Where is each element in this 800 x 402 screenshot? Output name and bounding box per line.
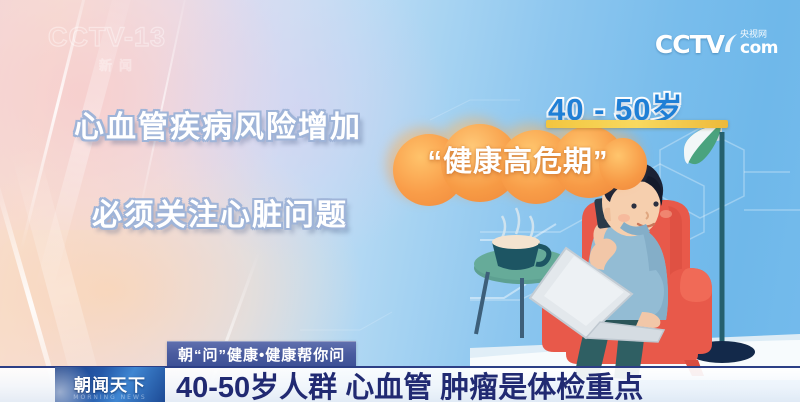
channel-watermark-sublabel: 新闻 — [48, 55, 178, 74]
news-headline: 40-50岁人群 心血管 肿瘤是体检重点 — [176, 368, 643, 402]
broadcast-frame: CCTV-13 新闻 CCTV 央视网 com 心血管疾病风险增加 必须关注心脏… — [0, 0, 800, 402]
network-logo-com: com — [740, 40, 778, 57]
program-logo-en: MORNING NEWS — [55, 394, 165, 401]
age-badge-underline — [546, 120, 728, 128]
network-logo-cn: 央视网 — [740, 30, 767, 39]
channel-watermark: CCTV-13 新闻 — [48, 24, 178, 74]
program-subtitle-text: 朝“问”健康•健康帮你问 — [178, 344, 345, 365]
highlight-bubble: “健康高危期” — [393, 124, 643, 204]
overlay-headline-2: 必须关注心脏问题 — [92, 190, 348, 234]
network-logo-main: CCTV — [655, 32, 724, 57]
network-logo: CCTV 央视网 com — [655, 30, 778, 57]
channel-watermark-label: CCTV-13 — [48, 24, 178, 51]
program-logo-cn: 朝闻天下 — [55, 371, 165, 396]
program-logo: 朝闻天下 MORNING NEWS — [55, 367, 165, 402]
program-subtitle-bar: 朝“问”健康•健康帮你问 — [167, 341, 356, 366]
highlight-bubble-label: “健康高危期” — [393, 138, 643, 180]
overlay-headline-1: 心血管疾病风险增加 — [74, 102, 362, 146]
swoosh-icon — [723, 32, 739, 56]
